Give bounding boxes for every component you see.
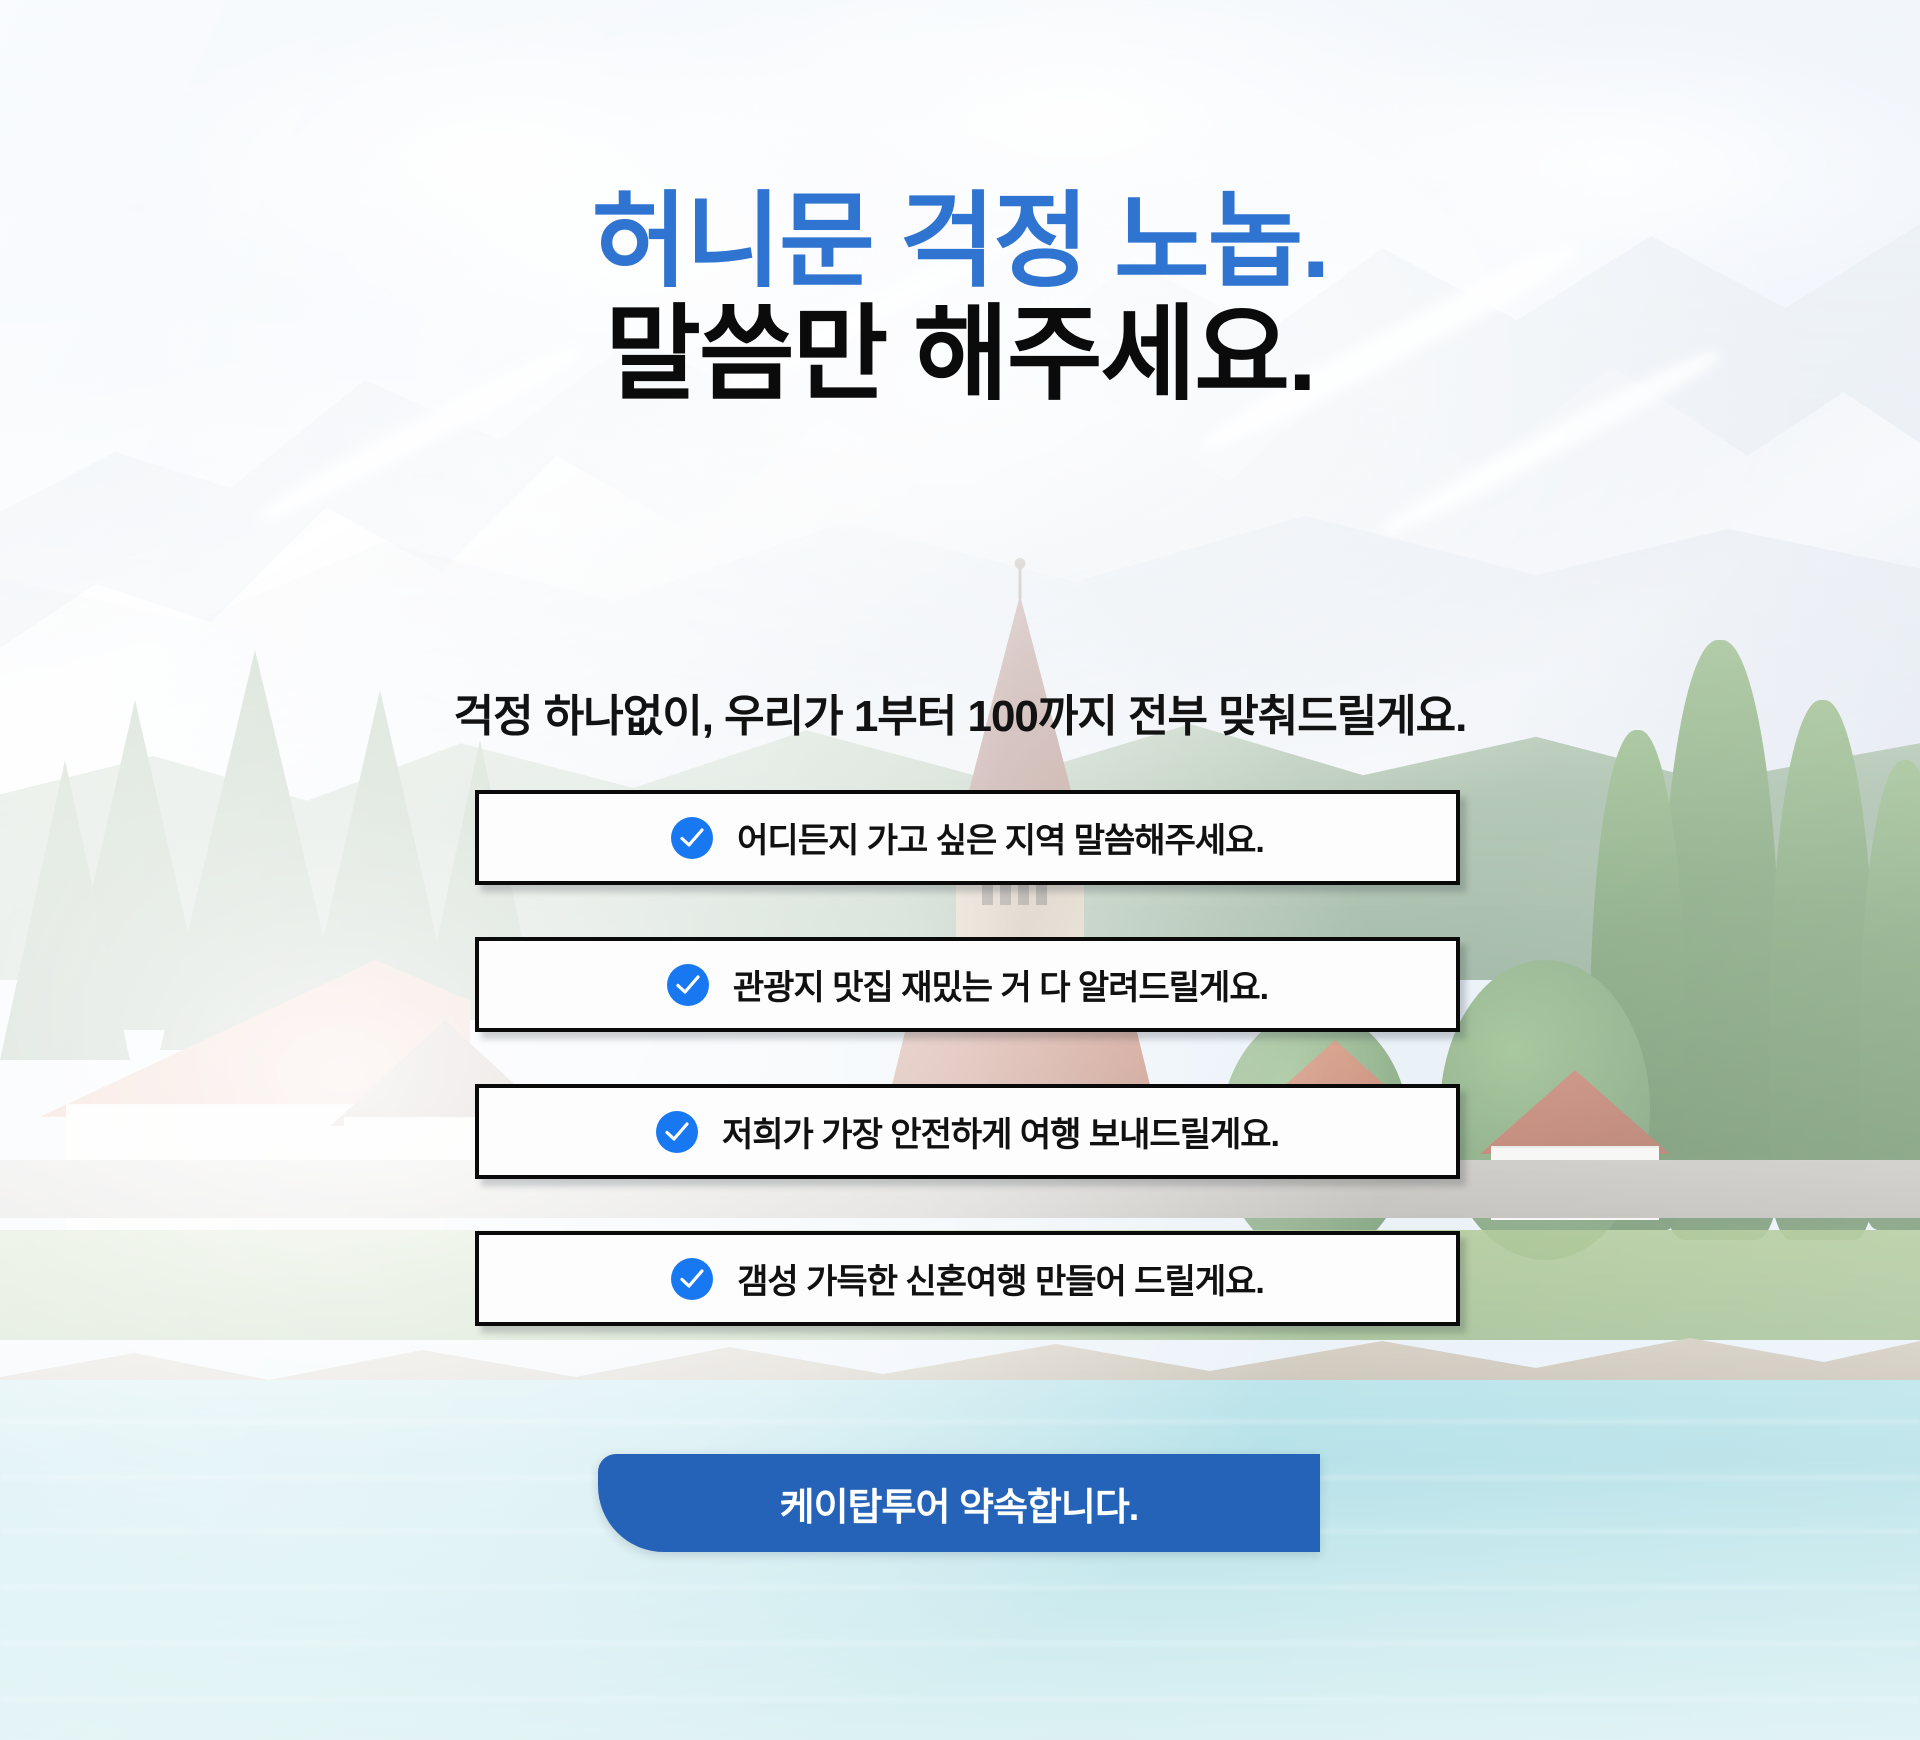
list-item-label: 관광지 맛집 재밌는 거 다 알려드릴게요. bbox=[733, 960, 1268, 1009]
promo-banner: 허니문 걱정 노놉. 말씀만 해주세요. 걱정 하나없이, 우리가 1부터 10… bbox=[0, 0, 1920, 1740]
promise-checklist: 어디든지 가고 싶은 지역 말씀해주세요. 관광지 맛집 재밌는 거 다 알려드… bbox=[475, 790, 1460, 1326]
check-circle-icon bbox=[671, 817, 713, 859]
list-item[interactable]: 어디든지 가고 싶은 지역 말씀해주세요. bbox=[475, 790, 1460, 885]
list-item[interactable]: 관광지 맛집 재밌는 거 다 알려드릴게요. bbox=[475, 937, 1460, 1032]
check-circle-icon bbox=[656, 1111, 698, 1153]
list-item-label: 저희가 가장 안전하게 여행 보내드릴게요. bbox=[722, 1107, 1279, 1156]
list-item[interactable]: 갬성 가득한 신혼여행 만들어 드릴게요. bbox=[475, 1231, 1460, 1326]
list-item-label: 어디든지 가고 싶은 지역 말씀해주세요. bbox=[737, 813, 1264, 862]
check-circle-icon bbox=[667, 964, 709, 1006]
page-title: 허니문 걱정 노놉. 말씀만 해주세요. bbox=[0, 189, 1920, 407]
headline-line-2: 말씀만 해주세요. bbox=[0, 302, 1920, 408]
check-circle-icon bbox=[671, 1258, 713, 1300]
subheadline: 걱정 하나없이, 우리가 1부터 100까지 전부 맞춰드릴게요. bbox=[0, 680, 1920, 744]
list-item[interactable]: 저희가 가장 안전하게 여행 보내드릴게요. bbox=[475, 1084, 1460, 1179]
promise-cta-button[interactable]: 케이탑투어 약속합니다. bbox=[598, 1454, 1320, 1552]
headline-line-1: 허니문 걱정 노놉. bbox=[0, 189, 1920, 295]
list-item-label: 갬성 가득한 신혼여행 만들어 드릴게요. bbox=[737, 1254, 1264, 1303]
banner-content: 허니문 걱정 노놉. 말씀만 해주세요. 걱정 하나없이, 우리가 1부터 10… bbox=[0, 0, 1920, 1740]
